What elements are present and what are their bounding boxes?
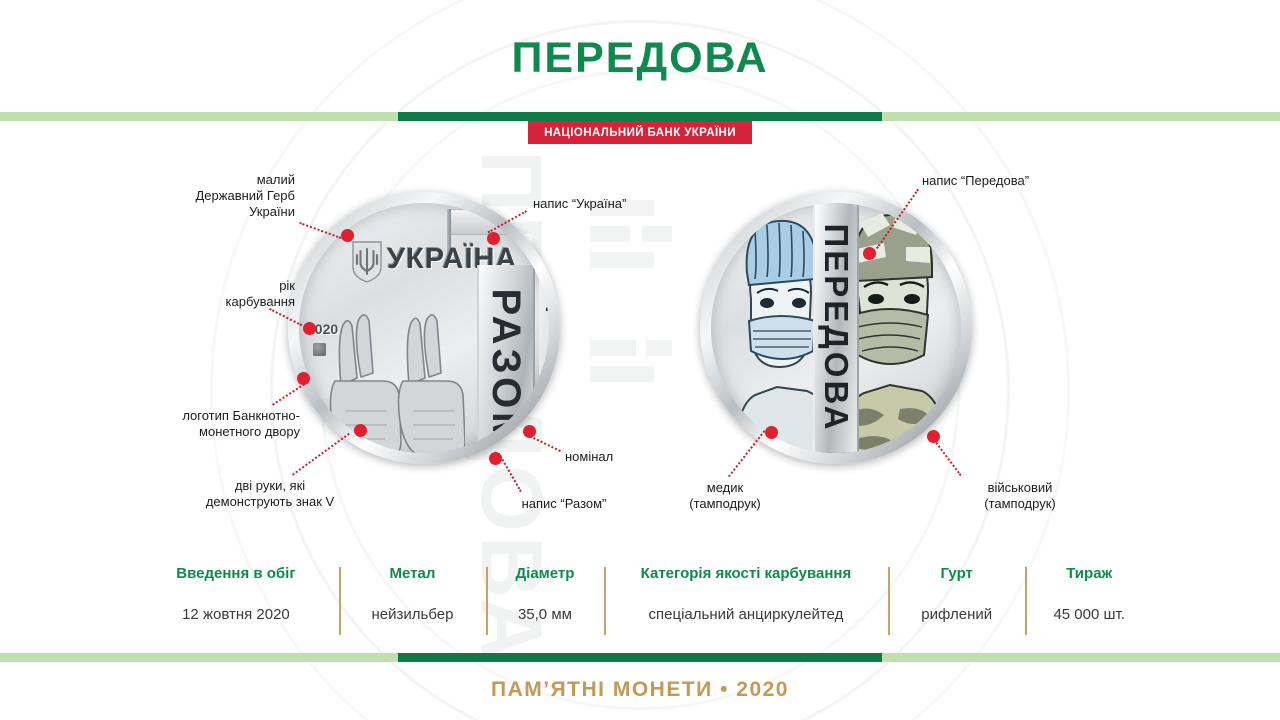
- callout-dot: [297, 372, 310, 385]
- specs-cell-edge: Гурт рифлений: [888, 565, 1025, 637]
- page-title: ПЕРЕДОВА: [0, 34, 1280, 83]
- callout-dot: [765, 426, 778, 439]
- specs-header: Введення в обіг: [176, 565, 295, 582]
- annotation-razom: напис “Разом”: [498, 496, 630, 512]
- specs-value: 45 000 шт.: [1053, 606, 1124, 623]
- specs-header: Гурт: [941, 565, 973, 582]
- specs-cell-quality: Категорія якості карбування спеціальний …: [604, 565, 888, 637]
- header-bar-dark: [398, 112, 882, 121]
- footer-text: ПАМ’ЯТНІ МОНЕТИ • 2020: [0, 678, 1280, 702]
- coin-peredova-inscription: ПЕРЕДОВА: [814, 203, 858, 453]
- annotation-country: напис “Україна”: [533, 196, 693, 212]
- callout-dot: [489, 452, 502, 465]
- footer-bar-dark: [398, 653, 882, 662]
- callout-dot: [863, 247, 876, 260]
- state-emblem-icon: [351, 241, 383, 283]
- specs-cell-metal: Метал нейзильбер: [339, 565, 486, 637]
- specs-cell-mintage: Тираж 45 000 шт.: [1025, 565, 1153, 637]
- annotation-emblem: малий Державний Герб України: [150, 172, 295, 220]
- callout-dot: [523, 425, 536, 438]
- annotation-denomination: номінал: [565, 449, 665, 465]
- coin-obverse-face: УКРАЇНА 2020 РАЗОМ: [299, 203, 549, 453]
- callout-dot: [303, 322, 316, 335]
- coin-reverse: ПЕРЕДОВА: [700, 192, 972, 464]
- bank-badge: НАЦІОНАЛЬНИЙ БАНК УКРАЇНИ: [528, 121, 752, 144]
- callout-dot: [927, 430, 940, 443]
- annotation-peredova: напис “Передова”: [922, 173, 1082, 189]
- infographic-page: ПЕРЕДОВА ПЕРЕДОВА НАЦІОНАЛЬНИЙ БАНК УКРА…: [0, 0, 1280, 720]
- specs-header: Діаметр: [515, 565, 574, 582]
- specs-header: Категорія якості карбування: [641, 565, 852, 582]
- coin-reverse-face: ПЕРЕДОВА: [711, 203, 961, 453]
- specs-cell-issue-date: Введення в обіг 12 жовтня 2020: [133, 565, 339, 637]
- annotation-year: рік карбування: [160, 278, 295, 310]
- callout-dot: [354, 424, 367, 437]
- specs-value: рифлений: [921, 606, 992, 623]
- annotation-mint-logo: логотип Банкнотно- монетного двору: [140, 408, 300, 440]
- specs-cell-diameter: Діаметр 35,0 мм: [486, 565, 604, 637]
- specs-header: Тираж: [1066, 565, 1112, 582]
- specs-value: 35,0 мм: [518, 606, 572, 623]
- annotation-medic: медик (тамподрук): [665, 480, 785, 512]
- specs-value: спеціальний анциркулейтед: [649, 606, 844, 623]
- specs-value: 12 жовтня 2020: [182, 606, 290, 623]
- annotation-soldier: військовий (тамподрук): [950, 480, 1090, 512]
- annotation-hands: дві руки, які демонструють знак V: [180, 478, 360, 510]
- specs-value: нейзильбер: [371, 606, 453, 623]
- callout-dot: [341, 229, 354, 242]
- two-hands-v-sign-icon: [327, 289, 465, 453]
- specs-table: Введення в обіг 12 жовтня 2020 Метал ней…: [133, 565, 1153, 637]
- specs-header: Метал: [390, 565, 436, 582]
- mint-logo-icon: [313, 343, 326, 356]
- callout-dot: [487, 232, 500, 245]
- leader-line: [292, 433, 350, 476]
